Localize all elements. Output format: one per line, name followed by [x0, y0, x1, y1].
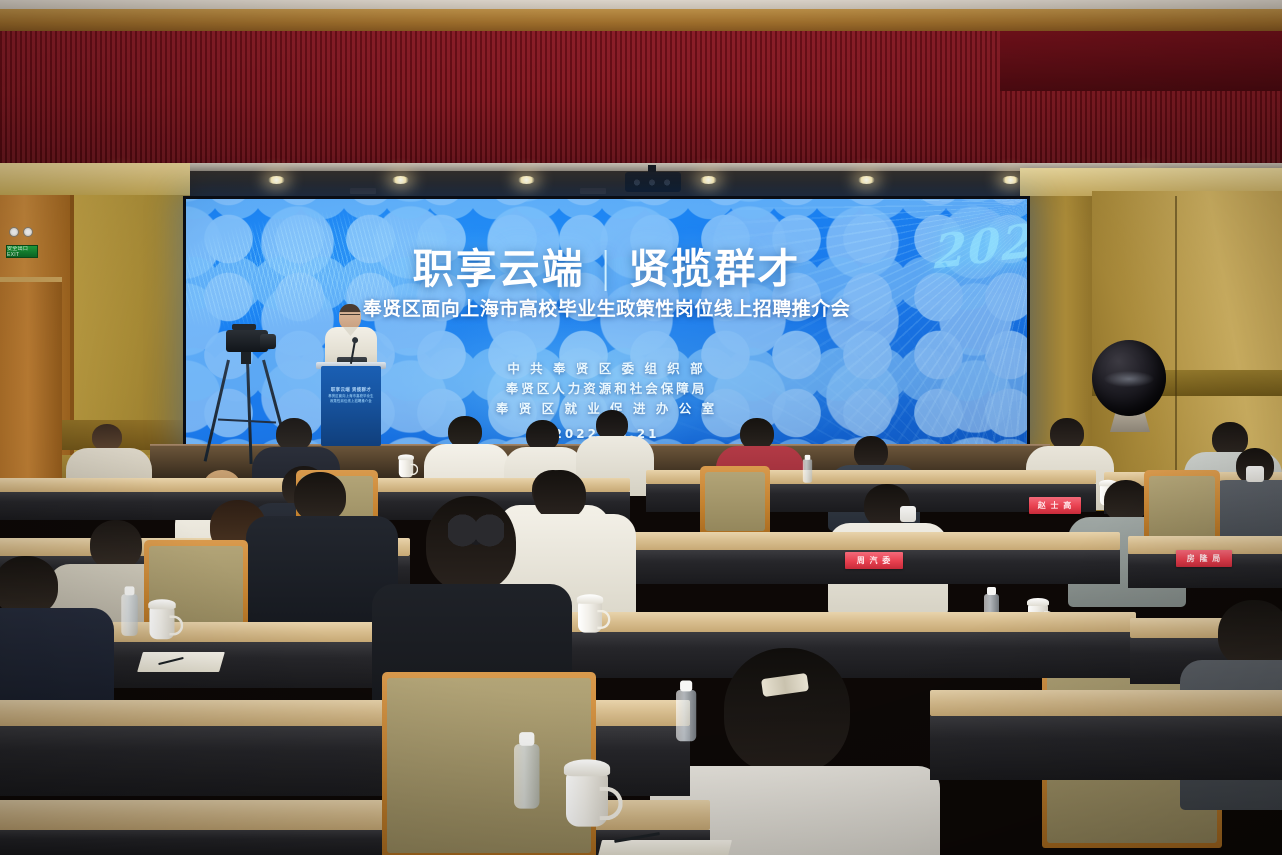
face-mask — [1246, 466, 1264, 482]
led-main-title: 职享云端|贤揽群才 — [186, 235, 1027, 295]
table-front-panel — [930, 716, 1282, 780]
emergency-light-icon — [9, 227, 35, 239]
water-bottle — [676, 690, 696, 741]
chair[interactable] — [1144, 470, 1220, 546]
ceiling-downlight — [518, 176, 535, 184]
water-bottle — [514, 744, 540, 809]
left-wall-upper-band — [0, 163, 190, 195]
name-plate: 房 隆 局 — [1176, 550, 1232, 567]
name-plate: 赵 士 高 — [1029, 497, 1081, 514]
ceiling-vent — [350, 188, 376, 194]
led-screen: 2022 职享云端|贤揽群才 奉贤区面向上海市高校毕业生政策性岗位线上招聘推介会… — [186, 199, 1027, 445]
podium-banner: 职享云端 贤揽群才 奉贤区面向上海市高校毕业生 政策性岗位线上招聘推介会 — [325, 388, 377, 404]
chair[interactable] — [700, 466, 770, 536]
right-wall-seam — [1175, 196, 1177, 496]
podium-banner-sub2: 政策性岗位线上招聘推介会 — [325, 399, 377, 404]
camera-handle — [232, 324, 256, 330]
conference-table — [556, 612, 1136, 632]
glasses-icon — [340, 314, 360, 318]
conference-table — [600, 532, 1120, 550]
led-title-left: 职享云端 — [413, 245, 585, 293]
projector-icon — [625, 172, 681, 192]
water-bottle — [121, 594, 138, 636]
ceiling-wood-molding — [0, 9, 1282, 31]
ceiling-downlight — [268, 176, 285, 184]
water-bottle — [803, 459, 812, 483]
tea-cup — [578, 601, 602, 632]
led-organizer-line: 中 共 奉 贤 区 委 组 织 部 — [186, 359, 1027, 379]
name-plate: 周 汽 委 — [845, 552, 903, 569]
ceiling-downlight — [1002, 176, 1019, 184]
table-front-panel — [556, 632, 1136, 678]
conference-hall-photo: 安全出口 EXIT 2022 职享云端|贤揽群才 奉贤区面向上海市高校毕业生政策… — [0, 0, 1282, 855]
tea-cup — [150, 607, 175, 640]
notebook — [137, 652, 225, 672]
chair[interactable] — [382, 672, 596, 855]
led-title-right: 贤揽群才 — [628, 245, 800, 293]
tripod-head — [241, 352, 251, 364]
red-curtain-right — [1000, 31, 1282, 91]
hair-bow — [448, 512, 504, 558]
camera-lens-icon — [260, 334, 276, 349]
left-door[interactable] — [0, 277, 62, 497]
conference-table — [930, 690, 1282, 716]
tea-cup — [399, 459, 413, 478]
dark-sphere-speaker — [1092, 340, 1166, 416]
face-mask — [900, 506, 916, 522]
ceiling-downlight — [858, 176, 875, 184]
ceiling-downlight — [392, 176, 409, 184]
led-subtitle: 奉贤区面向上海市高校毕业生政策性岗位线上招聘推介会 — [186, 294, 1027, 321]
exit-sign: 安全出口 EXIT — [6, 245, 38, 258]
led-organizer-line: 奉贤区人力资源和社会保障局 — [186, 379, 1027, 399]
led-title-separator: | — [599, 243, 615, 291]
podium: 职享云端 贤揽群才 奉贤区面向上海市高校毕业生 政策性岗位线上招聘推介会 — [321, 366, 381, 446]
ceiling-trim — [0, 0, 1282, 9]
ceiling-vent — [580, 188, 606, 194]
tea-cup — [566, 772, 608, 827]
ceiling-downlight — [700, 176, 717, 184]
